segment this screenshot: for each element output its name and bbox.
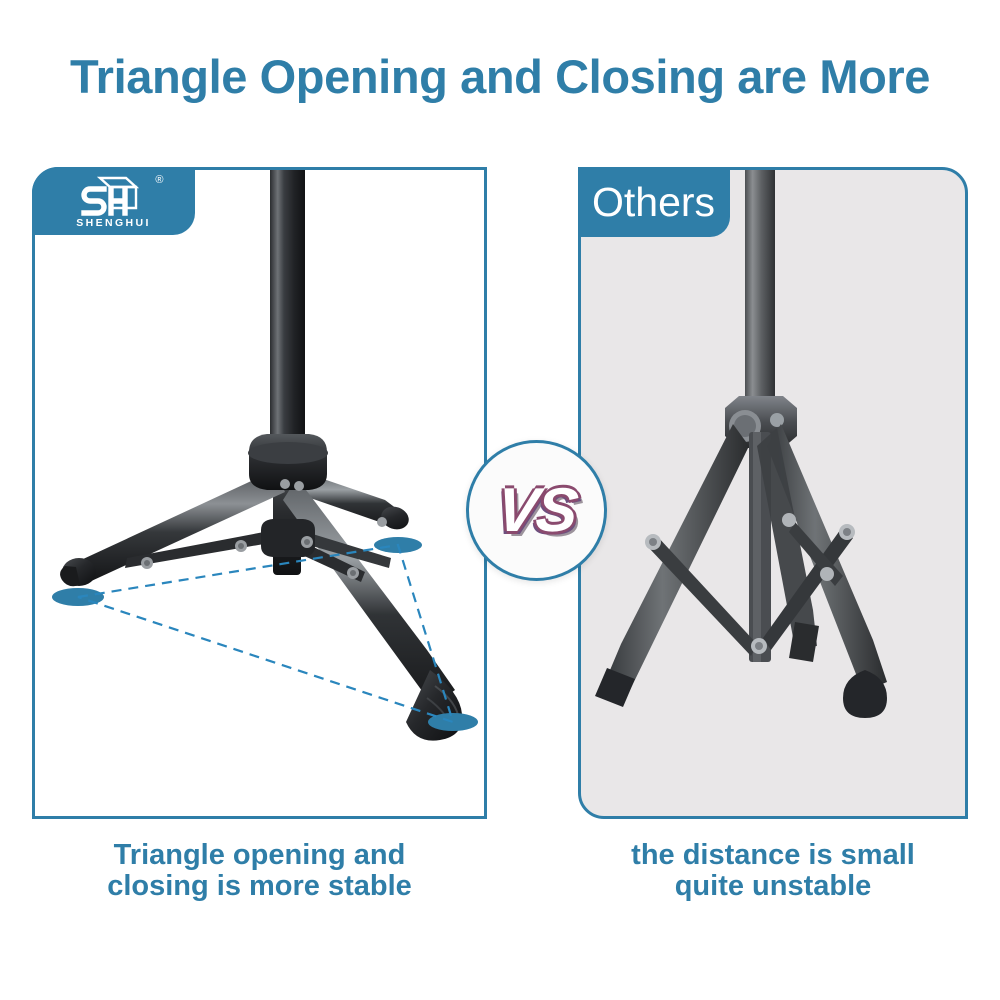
- brand-logo-badge: ® SHENGHUI: [32, 167, 195, 235]
- registered-trademark-icon: ®: [155, 175, 163, 186]
- right-tripod-illustration: [581, 170, 965, 818]
- right-caption: the distance is small quite unstable: [578, 840, 968, 903]
- vs-label: VS: [494, 480, 579, 542]
- left-caption-line2: closing is more stable: [32, 871, 487, 902]
- right-caption-line1: the distance is small: [631, 839, 915, 871]
- right-product-panel: [578, 167, 968, 819]
- others-label: Others: [592, 182, 715, 223]
- left-caption: Triangle opening and closing is more sta…: [32, 840, 487, 903]
- sh-cube-icon: [74, 175, 146, 221]
- left-tripod-illustration: [35, 170, 485, 818]
- page-title: Triangle Opening and Closing are More: [0, 52, 1000, 101]
- left-product-panel: [32, 167, 487, 819]
- others-badge: Others: [578, 167, 730, 237]
- comparison-infographic: Triangle Opening and Closing are More: [0, 0, 1000, 1000]
- left-caption-line1: Triangle opening and: [114, 839, 406, 871]
- vs-badge: VS: [466, 440, 607, 581]
- right-caption-line2: quite unstable: [578, 871, 968, 902]
- brand-name-label: SHENGHUI: [54, 218, 174, 229]
